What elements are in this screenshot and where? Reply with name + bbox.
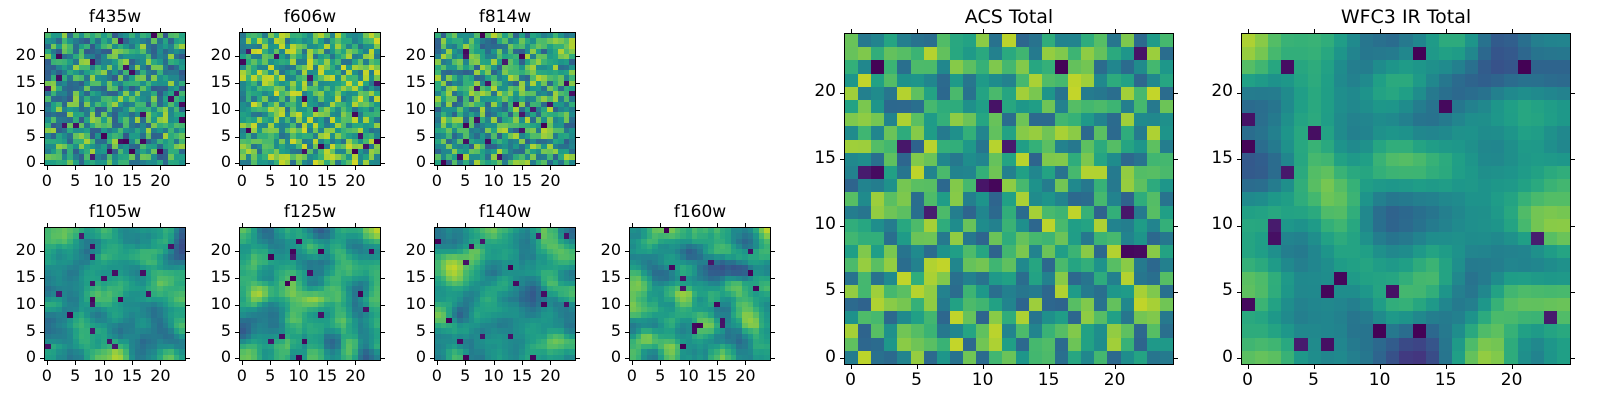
panel-title-wfc3-ir-total: WFC3 IR Total <box>1241 8 1571 27</box>
y-tick-right-wfc3-ir-total-5 <box>1571 292 1575 293</box>
x-tick-label-wfc3-ir-total-20: 20 <box>1482 372 1542 389</box>
x-tick-label-wfc3-ir-total-10: 10 <box>1350 372 1410 389</box>
figure-canvas: f435w0510152005101520f606w05101520051015… <box>0 0 1600 400</box>
y-tick-label-wfc3-ir-total-5: 5 <box>1173 282 1233 299</box>
y-tick-right-wfc3-ir-total-20 <box>1571 93 1575 94</box>
y-tick-right-wfc3-ir-total-0 <box>1571 358 1575 359</box>
x-tick-wfc3-ir-total-10 <box>1380 365 1381 369</box>
x-tick-top-wfc3-ir-total-5 <box>1314 29 1315 33</box>
y-tick-wfc3-ir-total-10 <box>1237 226 1241 227</box>
y-tick-label-wfc3-ir-total-10: 10 <box>1173 216 1233 233</box>
x-tick-wfc3-ir-total-5 <box>1314 365 1315 369</box>
x-tick-top-wfc3-ir-total-10 <box>1380 29 1381 33</box>
y-tick-wfc3-ir-total-20 <box>1237 93 1241 94</box>
x-tick-top-wfc3-ir-total-15 <box>1446 29 1447 33</box>
x-tick-wfc3-ir-total-15 <box>1446 365 1447 369</box>
y-tick-wfc3-ir-total-5 <box>1237 292 1241 293</box>
heatmap-axes-wfc3-ir-total[interactable] <box>1241 33 1571 365</box>
x-tick-top-wfc3-ir-total-20 <box>1512 29 1513 33</box>
y-tick-right-wfc3-ir-total-15 <box>1571 159 1575 160</box>
y-tick-label-wfc3-ir-total-20: 20 <box>1173 83 1233 100</box>
y-tick-label-wfc3-ir-total-15: 15 <box>1173 150 1233 167</box>
panel-wfc3-ir-total: WFC3 IR Total0510152005101520 <box>0 0 1600 400</box>
y-tick-wfc3-ir-total-0 <box>1237 358 1241 359</box>
x-tick-wfc3-ir-total-0 <box>1248 365 1249 369</box>
y-tick-label-wfc3-ir-total-0: 0 <box>1173 349 1233 366</box>
heatmap-cells-wfc3-ir-total <box>1242 34 1570 364</box>
x-tick-label-wfc3-ir-total-15: 15 <box>1416 372 1476 389</box>
y-tick-right-wfc3-ir-total-10 <box>1571 226 1575 227</box>
x-tick-label-wfc3-ir-total-5: 5 <box>1284 372 1344 389</box>
y-tick-wfc3-ir-total-15 <box>1237 159 1241 160</box>
x-tick-label-wfc3-ir-total-0: 0 <box>1218 372 1278 389</box>
x-tick-wfc3-ir-total-20 <box>1512 365 1513 369</box>
x-tick-top-wfc3-ir-total-0 <box>1248 29 1249 33</box>
